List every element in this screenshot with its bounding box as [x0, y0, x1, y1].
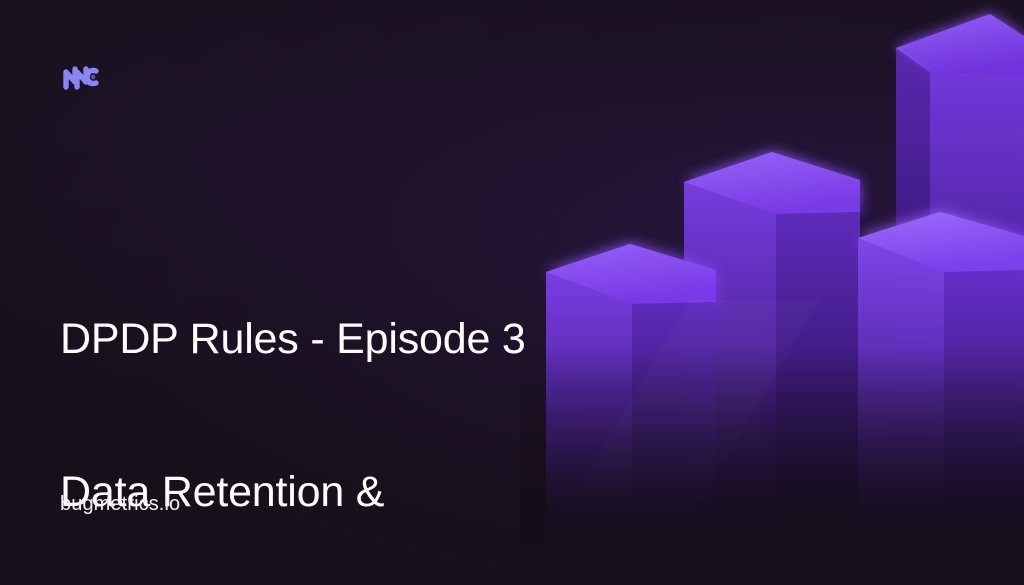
headline-line-1: DPDP Rules - Episode 3: [60, 314, 580, 365]
promo-card: DPDP Rules - Episode 3 Data Retention & …: [0, 0, 1024, 585]
brand-logo[interactable]: [60, 58, 102, 98]
bar-4: [858, 212, 1024, 585]
bar-chart-artwork: [520, 0, 1024, 585]
bugmetrics-monogram-icon: [60, 58, 102, 98]
site-label[interactable]: bugmetrics.io: [60, 491, 180, 517]
page-title: DPDP Rules - Episode 3 Data Retention & …: [60, 212, 580, 585]
